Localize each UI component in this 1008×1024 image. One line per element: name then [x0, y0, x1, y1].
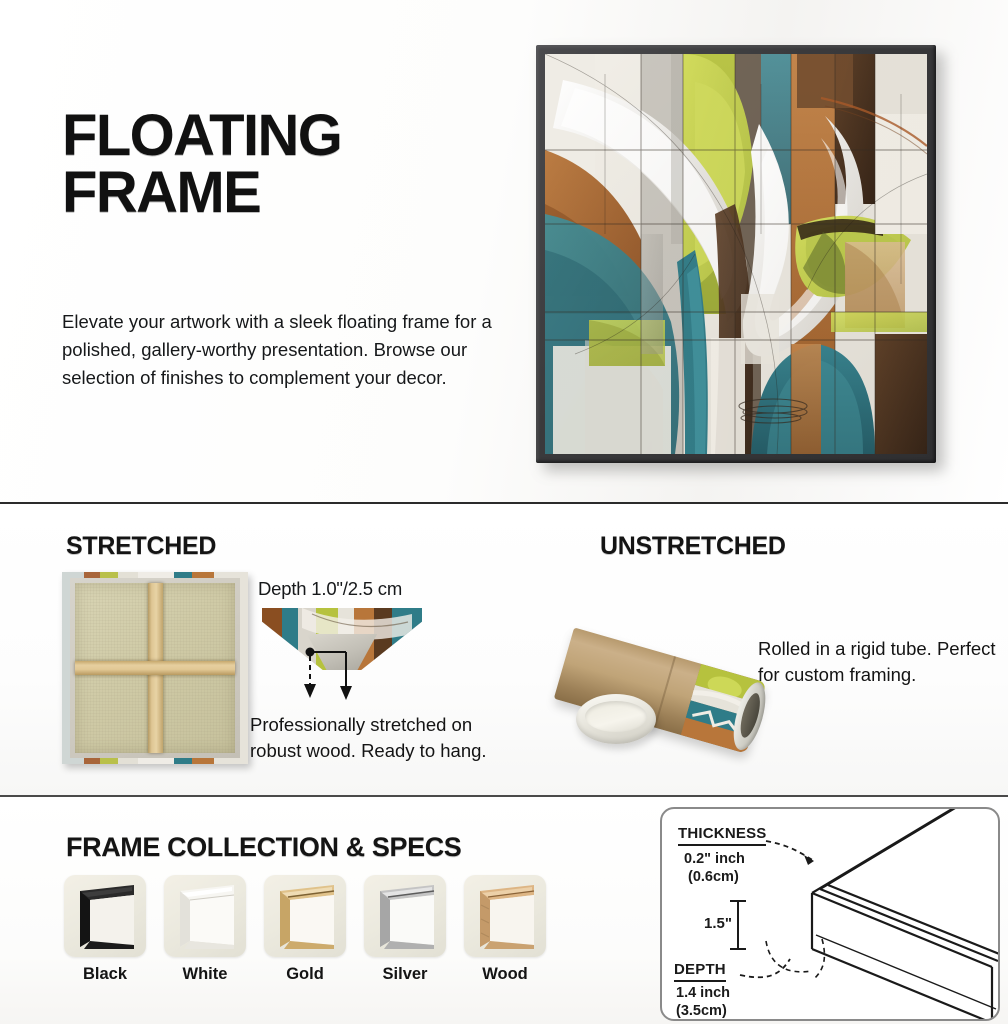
- canvas-back-photo: [62, 572, 248, 764]
- stretched-caption: Professionally stretched on robust wood.…: [250, 712, 502, 765]
- floating-frame-border: [536, 45, 936, 463]
- height-value: 1.5": [704, 915, 732, 932]
- shipping-options-section: STRETCHED UNSTRETCHED Depth 1.: [0, 504, 1008, 795]
- unstretched-caption: Rolled in a rigid tube. Perfect for cust…: [758, 636, 1008, 689]
- infographic-page: FLOATING FRAME Elevate your artwork with…: [0, 0, 1008, 1024]
- swatch-label: Wood: [464, 965, 546, 984]
- swatch-card[interactable]: [464, 875, 546, 957]
- swatch-card[interactable]: [164, 875, 246, 957]
- depth-value-inch: 1.4 inch: [676, 985, 730, 1001]
- page-title: FLOATING FRAME: [62, 108, 341, 222]
- swatch-card[interactable]: [264, 875, 346, 957]
- collection-heading: FRAME COLLECTION & SPECS: [66, 832, 461, 863]
- frame-corner-white-icon: [164, 875, 246, 957]
- frame-corner-gold-icon: [264, 875, 346, 957]
- unstretched-heading: UNSTRETCHED: [600, 532, 786, 561]
- shipping-tube-photo: [560, 584, 780, 759]
- swatch-card[interactable]: [64, 875, 146, 957]
- hero-description: Elevate your artwork with a sleek floati…: [62, 308, 532, 392]
- frame-swatch-white[interactable]: White: [164, 875, 246, 984]
- swatch-label: Black: [64, 965, 146, 984]
- frame-swatch-list: Black White: [64, 875, 546, 984]
- tube-seam: [654, 656, 676, 728]
- frame-corner-black-icon: [64, 875, 146, 957]
- swatch-label: White: [164, 965, 246, 984]
- thickness-value-cm: (0.6cm): [688, 869, 739, 885]
- abstract-artwork-icon: [545, 54, 927, 454]
- frame-swatch-wood[interactable]: Wood: [464, 875, 546, 984]
- swatch-label: Gold: [264, 965, 346, 984]
- frame-swatch-gold[interactable]: Gold: [264, 875, 346, 984]
- title-line-1: FLOATING: [62, 103, 341, 168]
- frame-corner-silver-icon: [364, 875, 446, 957]
- swatch-label: Silver: [364, 965, 446, 984]
- artwork-canvas: [545, 54, 927, 454]
- depth-dimension-arrows: [262, 608, 422, 704]
- hero-section: FLOATING FRAME Elevate your artwork with…: [0, 0, 1008, 502]
- tube-end-cap-inner: [585, 701, 647, 732]
- depth-spec-label: DEPTH: [674, 961, 726, 982]
- tube-end-cap: [576, 694, 656, 744]
- canvas-fabric: [75, 583, 235, 753]
- wood-brace-horizontal: [75, 661, 235, 675]
- frame-swatch-silver[interactable]: Silver: [364, 875, 446, 984]
- framed-artwork: [536, 45, 936, 463]
- depth-value-cm: (3.5cm): [676, 1003, 727, 1019]
- frame-corner-wood-icon: [464, 875, 546, 957]
- swatch-card[interactable]: [364, 875, 446, 957]
- title-line-2: FRAME: [62, 165, 341, 222]
- frame-swatch-black[interactable]: Black: [64, 875, 146, 984]
- stretcher-frame: [70, 578, 240, 758]
- thickness-value-inch: 0.2" inch: [684, 851, 745, 867]
- depth-label: Depth 1.0"/2.5 cm: [258, 578, 402, 600]
- stretched-heading: STRETCHED: [66, 532, 216, 561]
- frame-collection-section: FRAME COLLECTION & SPECS Black: [0, 797, 1008, 1024]
- thickness-label: THICKNESS: [678, 825, 766, 846]
- frame-spec-diagram: THICKNESS 0.2" inch (0.6cm) 1.5" DEPTH 1…: [660, 807, 1000, 1021]
